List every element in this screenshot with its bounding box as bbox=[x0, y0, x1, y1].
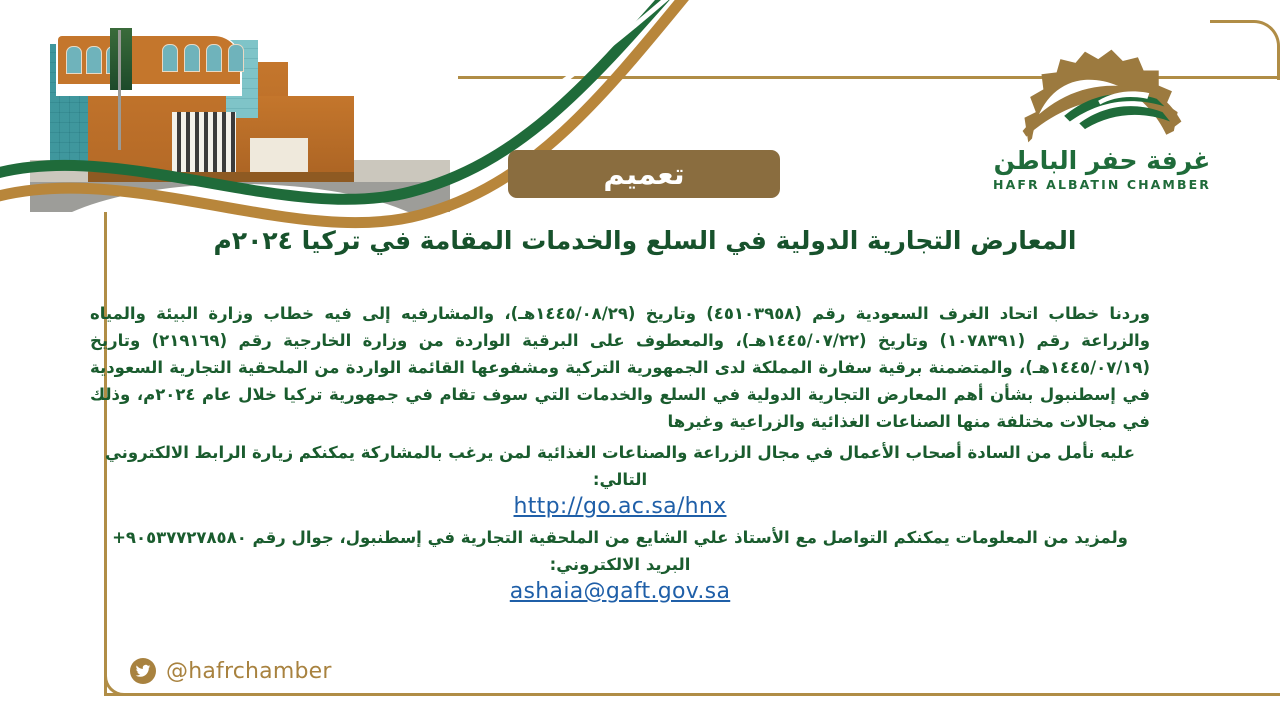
body-paragraph-1: وردنا خطاب اتحاد الغرف السعودية رقم (٤٥١… bbox=[90, 300, 1150, 435]
twitter-handle-text[interactable]: @hafrchamber bbox=[166, 659, 332, 684]
frame-bottom-line bbox=[104, 693, 1280, 696]
logo-name-arabic: غرفة حفر الباطن bbox=[982, 146, 1222, 175]
chamber-logo: غرفة حفر الباطن HAFR ALBATIN CHAMBER bbox=[982, 44, 1222, 196]
circular-banner: تعميم bbox=[508, 150, 780, 198]
body-paragraph-2: عليه نأمل من السادة أصحاب الأعمال في مجا… bbox=[90, 439, 1150, 493]
logo-name-english: HAFR ALBATIN CHAMBER bbox=[982, 177, 1222, 192]
chamber-building-photo bbox=[30, 12, 450, 212]
page-title: المعارض التجارية الدولية في السلع والخدم… bbox=[140, 226, 1150, 255]
announcement-page: غرفة حفر الباطن HAFR ALBATIN CHAMBER تعم… bbox=[0, 0, 1280, 720]
announcement-body: وردنا خطاب اتحاد الغرف السعودية رقم (٤٥١… bbox=[90, 300, 1150, 605]
chamber-gear-dunes-logo-icon bbox=[1007, 44, 1197, 148]
registration-link[interactable]: http://go.ac.sa/hnx bbox=[90, 493, 1150, 520]
body-paragraph-3: ولمزيد من المعلومات يمكنكم التواصل مع ال… bbox=[90, 524, 1150, 551]
contact-email-link[interactable]: ashaia@gaft.gov.sa bbox=[90, 578, 1150, 605]
email-label: البريد الالكتروني: bbox=[90, 551, 1150, 578]
twitter-bird-icon[interactable] bbox=[130, 658, 156, 684]
circular-banner-label: تعميم bbox=[603, 157, 684, 191]
twitter-handle-block[interactable]: @hafrchamber bbox=[130, 658, 332, 684]
